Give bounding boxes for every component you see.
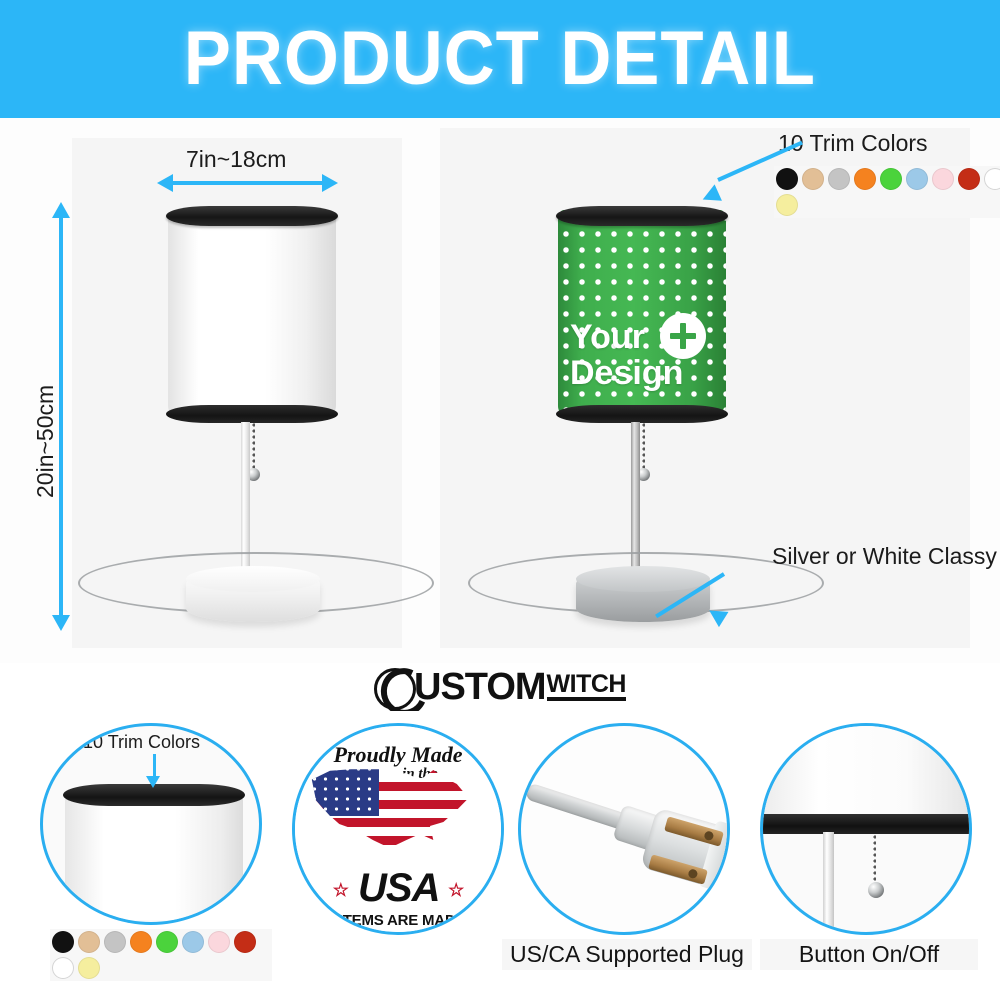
material-callout-arrow-icon [700, 558, 820, 628]
swatch-white[interactable] [984, 168, 1000, 190]
height-arrow-up-icon [52, 202, 70, 218]
trim-colors-swatch-list-bottom [50, 929, 272, 981]
swatch-light-blue-2[interactable] [182, 931, 204, 953]
swatch-green[interactable] [880, 168, 902, 190]
lamp-shade-custom: Your Design [558, 210, 726, 415]
main-stage: 7in~18cm 20in~50cm [0, 118, 1000, 663]
lamp-base-top-custom [576, 566, 710, 592]
swatch-green-2[interactable] [156, 931, 178, 953]
width-dimension-line [170, 181, 325, 185]
usa-flag-canton-icon [309, 764, 379, 816]
height-dimension-line [59, 216, 63, 616]
bottom-feature-panels: 10 Trim Colors Proudly Made in the ☆ [0, 711, 1000, 1000]
width-arrow-right-icon [322, 174, 338, 192]
usa-star-right-icon: ☆ [448, 880, 463, 900]
panel-trim-colors: 10 Trim Colors [40, 723, 262, 925]
swatch-red[interactable] [958, 168, 980, 190]
trim-arrow-head [699, 184, 722, 207]
width-dimension-label: 7in~18cm [186, 146, 286, 173]
page-title: PRODUCT DETAIL [184, 21, 816, 97]
swatch-black-2[interactable] [52, 931, 74, 953]
height-arrow-down-icon [52, 615, 70, 631]
lamp-trim-top-white [166, 206, 338, 226]
lamp-trim-bottom-white [166, 405, 338, 423]
trim-callout-arrow-icon [700, 160, 820, 220]
usa-label: USA [358, 866, 438, 910]
swatch-pink[interactable] [932, 168, 954, 190]
usa-made-to-order-text: ALL ITEMS ARE MADE TO ORDER! [295, 912, 501, 935]
plug-prong-hole-bottom [687, 868, 698, 879]
swatch-pink-2[interactable] [208, 931, 230, 953]
panel-plug-caption: US/CA Supported Plug [502, 939, 752, 970]
brand-logo: USTOM WITCH [0, 663, 1000, 711]
swatch-gray[interactable] [828, 168, 850, 190]
plug-prong-hole-top [703, 830, 714, 841]
lamp-trim-bottom-custom [556, 405, 728, 423]
panel-made-in-usa: Proudly Made in the ☆ USA ☆ ALL ITEMS AR… [292, 723, 504, 935]
usa-script-line-1: Proudly Made [295, 742, 501, 768]
design-line-2: Design [570, 354, 683, 392]
add-design-plus-icon[interactable] [660, 313, 706, 359]
swatch-yellow-2[interactable] [78, 957, 100, 979]
swatch-light-blue[interactable] [906, 168, 928, 190]
pull-chain-white[interactable] [252, 422, 255, 470]
swatch-orange[interactable] [854, 168, 876, 190]
panel-button-onoff [760, 723, 972, 935]
button-panel-shade [760, 723, 972, 820]
usa-star-left-icon: ☆ [333, 880, 348, 900]
usa-badge: Proudly Made in the ☆ USA ☆ ALL ITEMS AR… [295, 726, 501, 932]
pull-chain-custom[interactable] [642, 422, 645, 470]
swatch-red-2[interactable] [234, 931, 256, 953]
panel-shade-body [65, 790, 243, 920]
lamp-shade-white [168, 210, 336, 415]
panel-button-caption: Button On/Off [760, 939, 978, 970]
plus-horizontal-bar [670, 333, 696, 339]
button-panel-pull-chain[interactable] [873, 834, 876, 886]
product-detail-page: PRODUCT DETAIL 7in~18cm 20in~50cm [0, 0, 1000, 1000]
swatch-tan-2[interactable] [78, 931, 100, 953]
swatch-white-2[interactable] [52, 957, 74, 979]
lamp-white [160, 200, 350, 650]
design-line-1: Your [570, 318, 645, 356]
panel-plug [518, 723, 730, 935]
usa-big-text: ☆ USA ☆ [295, 866, 501, 911]
button-panel-chain-ball[interactable] [868, 882, 884, 898]
trim-pointer-arrow-icon [146, 776, 160, 788]
brand-name-sub: WITCH [547, 673, 626, 702]
height-dimension-label: 20in~50cm [32, 385, 59, 498]
brand-name-main: USTOM [414, 666, 546, 709]
panel-trim-colors-label: 10 Trim Colors [83, 732, 200, 753]
swatch-gray-2[interactable] [104, 931, 126, 953]
button-panel-trim [760, 814, 972, 834]
swatch-orange-2[interactable] [130, 931, 152, 953]
lamp-base-top-white [186, 566, 320, 592]
width-arrow-left-icon [157, 174, 173, 192]
button-panel-pole [823, 832, 834, 935]
material-arrow-head [705, 603, 729, 627]
brand-c-mark-icon [374, 666, 416, 708]
header-banner: PRODUCT DETAIL [0, 0, 1000, 118]
